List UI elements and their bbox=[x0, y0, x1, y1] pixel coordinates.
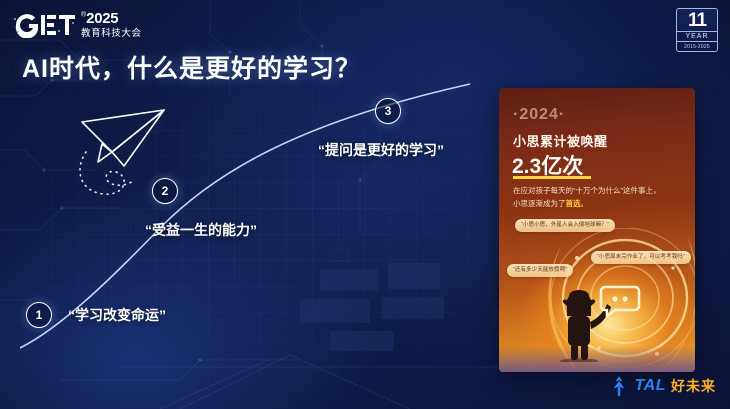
chat-bubble-icon bbox=[599, 284, 641, 318]
poster-body: 在应对孩子每天的“十万个为什么”这件事上， 小思逐渐成为了首选。 bbox=[513, 184, 685, 210]
step-label-1: “学习改变命运” bbox=[68, 305, 166, 325]
poster-card[interactable]: ·2024· 小思累计被唤醒 2.3亿次 在应对孩子每天的“十万个为什么”这件事… bbox=[499, 88, 695, 372]
poster-body-line2-post: 。 bbox=[581, 199, 589, 208]
poster-bubble-3: “还有多少天能放假啊” bbox=[507, 264, 573, 277]
anniversary-unit: YEAR bbox=[677, 31, 717, 42]
tal-star-icon bbox=[608, 375, 630, 397]
get-conference-logo: ®2025 教育科技大会 bbox=[14, 11, 142, 39]
step-number-3: 3 bbox=[375, 98, 401, 124]
tal-logo-cn: 好未来 bbox=[671, 376, 716, 396]
logo-year: 2025 bbox=[86, 10, 118, 27]
poster-metric-underline bbox=[513, 176, 591, 179]
poster-bubble-1: “小思小思，外星人会入侵地球嘛？” bbox=[515, 219, 615, 232]
poster-heading: 小思累计被唤醒 bbox=[513, 131, 608, 150]
anniversary-number: 11 bbox=[688, 11, 706, 30]
poster-body-highlight: 首选 bbox=[566, 199, 581, 208]
step-marker-3[interactable]: 3 “提问是更好的学习” bbox=[375, 98, 444, 160]
step-label-3: “提问是更好的学习” bbox=[318, 140, 444, 160]
poster-body-line1: 在应对孩子每天的“十万个为什么”这件事上， bbox=[513, 186, 661, 195]
slide-root: ®2025 教育科技大会 11 YEAR 2015-2025 AI时代，什么是更… bbox=[0, 0, 730, 409]
step-marker-2[interactable]: 2 “受益一生的能力” bbox=[152, 178, 257, 240]
anniversary-range: 2015-2025 bbox=[684, 44, 710, 50]
anniversary-badge: 11 YEAR 2015-2025 bbox=[676, 8, 718, 52]
tal-footer-logo: TAL 好未来 bbox=[608, 375, 716, 397]
step-label-2: “受益一生的能力” bbox=[145, 220, 257, 240]
step-number-2: 2 bbox=[152, 178, 178, 204]
poster-body-line2-pre: 小思逐渐成为了 bbox=[513, 199, 566, 208]
step-marker-1[interactable]: 1 “学习改变命运” bbox=[26, 302, 166, 328]
poster-year: ·2024· bbox=[513, 106, 565, 124]
get-logo-icon bbox=[14, 12, 76, 38]
step-number-1: 1 bbox=[26, 302, 52, 328]
logo-subtitle: 教育科技大会 bbox=[81, 29, 142, 39]
tal-logo-en: TAL bbox=[635, 377, 666, 395]
poster-bubble-2: “小思周末完作业了，可以考考我吗” bbox=[591, 251, 691, 264]
